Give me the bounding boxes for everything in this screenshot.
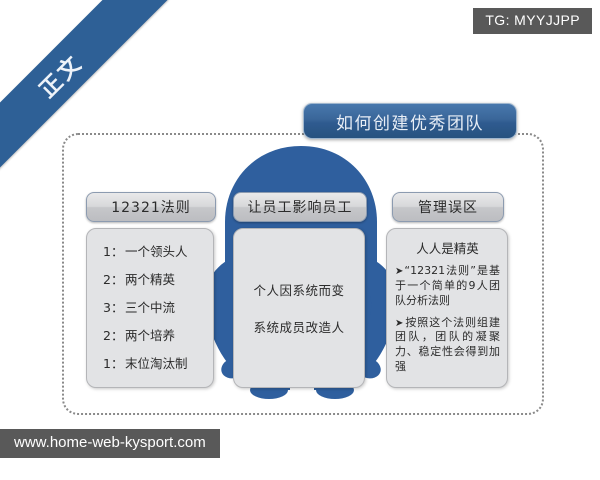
column-header-left: 12321法则	[86, 192, 216, 222]
column-header-middle-text: 让员工影响员工	[248, 197, 353, 217]
list-item: 2： 两个精英	[87, 269, 213, 288]
bullet-item: ➤“12321法则”是基于一个简单的9人团队分析法则	[395, 264, 500, 309]
list-item-number: 1：	[103, 241, 125, 260]
list-item: 1： 一个领头人	[87, 241, 213, 260]
list-item-number: 2：	[103, 269, 125, 288]
column-body-left: 1： 一个领头人 2： 两个精英 3： 三个中流 2： 两个培养 1： 末位淘汰…	[86, 228, 214, 388]
column-body-right: 人人是精英 ➤“12321法则”是基于一个简单的9人团队分析法则 ➤按照这个法则…	[386, 228, 508, 388]
slide-title-text: 如何创建优秀团队	[336, 109, 484, 134]
arrow-bullet-icon: ➤	[395, 266, 404, 277]
list-item: 3： 三个中流	[87, 297, 213, 316]
column-header-left-text: 12321法则	[111, 197, 191, 217]
column-header-middle: 让员工影响员工	[233, 192, 367, 222]
list-item-number: 2：	[103, 325, 125, 344]
list-item-number: 3：	[103, 297, 125, 316]
right-subtitle: 人人是精英	[395, 238, 500, 257]
column-body-middle: 个人因系统而变 系统成员改造人	[233, 228, 365, 388]
list-item-number: 1：	[103, 353, 125, 372]
middle-line-1: 个人因系统而变	[253, 280, 344, 299]
list-item: 1： 末位淘汰制	[87, 353, 213, 372]
list-item-label: 两个精英	[125, 269, 175, 288]
middle-line-2: 系统成员改造人	[253, 317, 344, 336]
site-watermark: www.home-web-kysport.com	[0, 429, 220, 458]
bullet-text: 按照这个法则组建团队，团队的凝聚力、稳定性会得到加强	[395, 316, 500, 374]
list-item-label: 两个培养	[125, 325, 175, 344]
list-item-label: 末位淘汰制	[125, 353, 188, 372]
list-item-label: 三个中流	[125, 297, 175, 316]
slide-title: 如何创建优秀团队	[303, 103, 517, 139]
tg-badge: TG: MYYJJPP	[473, 8, 592, 34]
principle-list: 1： 一个领头人 2： 两个精英 3： 三个中流 2： 两个培养 1： 末位淘汰…	[87, 229, 213, 372]
list-item: 2： 两个培养	[87, 325, 213, 344]
bullet-text: “12321法则”是基于一个简单的9人团队分析法则	[395, 264, 500, 307]
arrow-bullet-icon: ➤	[395, 318, 404, 329]
list-item-label: 一个领头人	[125, 241, 188, 260]
bullet-item: ➤按照这个法则组建团队，团队的凝聚力、稳定性会得到加强	[395, 316, 500, 375]
column-header-right-text: 管理误区	[418, 197, 478, 217]
column-header-right: 管理误区	[392, 192, 504, 222]
slide-canvas: 正文 如何创建优秀团队 12	[0, 0, 600, 480]
